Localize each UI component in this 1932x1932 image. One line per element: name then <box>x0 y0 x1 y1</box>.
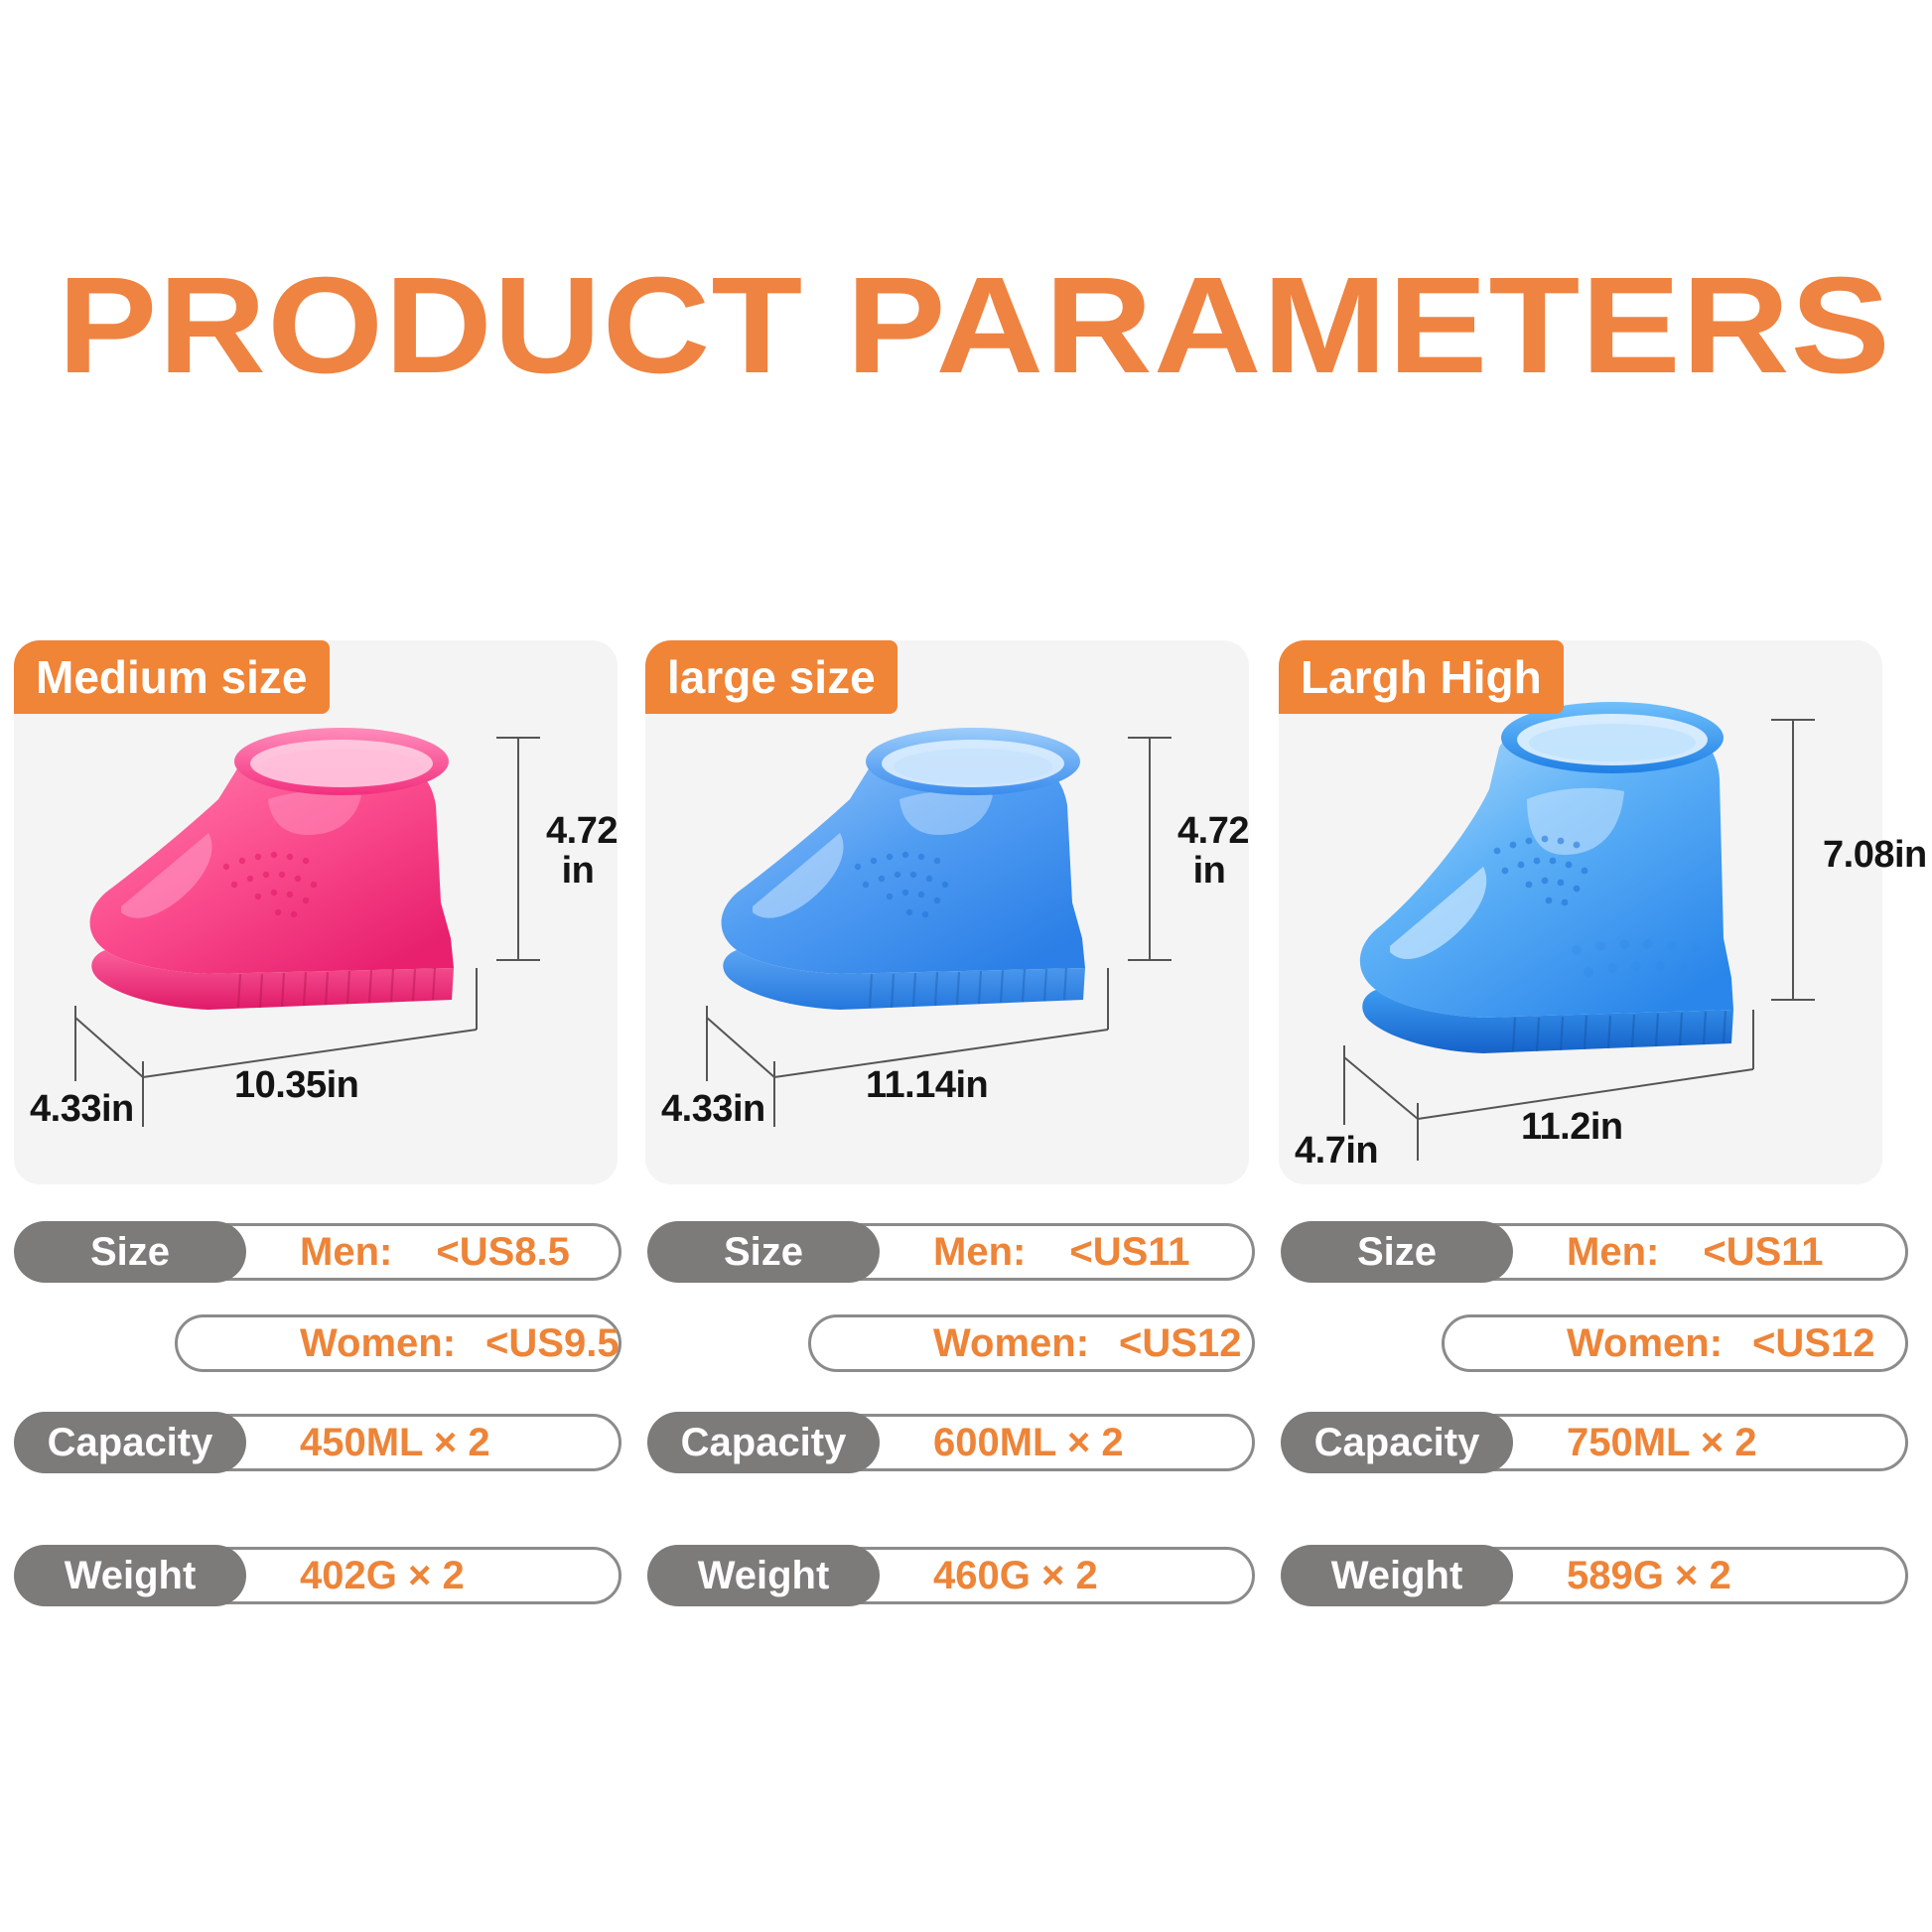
boot-illustration-largh-high <box>1279 640 1882 1184</box>
page-title: PRODUCT PARAMETERS <box>58 256 1932 395</box>
spec-row-women-largh-high[interactable]: Women:<US12 <box>1281 1314 1908 1372</box>
spec-label-size-large: Size <box>647 1221 880 1283</box>
dimension-width-largh-high: 4.7in <box>1295 1131 1378 1171</box>
spec-row-weight-largh-high[interactable]: Weight 589G × 2 <box>1281 1547 1908 1604</box>
spec-label-capacity-large: Capacity <box>647 1412 880 1473</box>
dimension-width-medium: 4.33in <box>30 1089 134 1129</box>
spec-women-text-large: Women:<US12 <box>933 1314 1241 1372</box>
spec-men-key-large: Men: <box>933 1230 1026 1274</box>
boot-blue-tall-icon <box>1279 640 1882 1184</box>
dimension-length-largh-high: 11.2in <box>1521 1107 1623 1147</box>
spec-men-value-medium: <US8.5 <box>436 1230 570 1274</box>
product-cards-row: Medium size 4.72 in 10.35in 4.33in <box>0 640 1932 1186</box>
spec-row-weight-large[interactable]: Weight 460G × 2 <box>647 1547 1275 1604</box>
spec-capacity-value-largh-high: 750ML × 2 <box>1567 1414 1757 1471</box>
dimension-height-medium: 4.72 in <box>546 811 610 891</box>
spec-row-weight-medium[interactable]: Weight 402G × 2 <box>14 1547 641 1604</box>
spec-men-text-medium: Men:<US8.5 <box>300 1223 570 1281</box>
dimension-width-large: 4.33in <box>661 1089 765 1129</box>
spec-capacity-value-large: 600ML × 2 <box>933 1414 1124 1471</box>
spec-women-key-medium: Women: <box>300 1321 456 1365</box>
spec-women-text-largh-high: Women:<US12 <box>1567 1314 1874 1372</box>
dimension-height-largh-high: 7.08in <box>1823 835 1927 875</box>
spec-men-text-largh-high: Men:<US11 <box>1567 1223 1824 1281</box>
spec-label-weight-medium: Weight <box>14 1545 246 1606</box>
dimension-height-unit-large: in <box>1177 851 1241 891</box>
card-tab-large: large size <box>645 640 897 714</box>
spec-men-key-largh-high: Men: <box>1567 1230 1659 1274</box>
spec-row-women-large[interactable]: Women:<US12 <box>647 1314 1275 1372</box>
spec-capacity-value-medium: 450ML × 2 <box>300 1414 490 1471</box>
spec-row-capacity-largh-high[interactable]: Capacity 750ML × 2 <box>1281 1414 1908 1471</box>
spec-row-size-largh-high[interactable]: Size Men:<US11 <box>1281 1223 1908 1281</box>
spec-label-capacity-largh-high: Capacity <box>1281 1412 1513 1473</box>
spec-label-size-largh-high: Size <box>1281 1221 1513 1283</box>
spec-weight-value-large: 460G × 2 <box>933 1547 1098 1604</box>
dimension-height-large: 4.72 in <box>1177 811 1241 891</box>
spec-row-size-large[interactable]: Size Men:<US11 <box>647 1223 1275 1281</box>
dimension-height-unit-medium: in <box>546 851 610 891</box>
dimension-height-value-medium: 4.72 <box>546 811 610 851</box>
spec-weight-value-largh-high: 589G × 2 <box>1567 1547 1731 1604</box>
product-card-largh-high[interactable]: Largh High 7.08in 11.2in 4.7in <box>1279 640 1882 1184</box>
spec-label-capacity-medium: Capacity <box>14 1412 246 1473</box>
spec-women-key-large: Women: <box>933 1321 1089 1365</box>
spec-women-value-large: <US12 <box>1119 1321 1241 1365</box>
spec-row-size-medium[interactable]: Size Men:<US8.5 <box>14 1223 641 1281</box>
spec-men-value-largh-high: <US11 <box>1703 1230 1823 1274</box>
spec-row-women-medium[interactable]: Women:<US9.5 <box>14 1314 641 1372</box>
spec-women-key-largh-high: Women: <box>1567 1321 1723 1365</box>
spec-women-text-medium: Women:<US9.5 <box>300 1314 620 1372</box>
spec-row-capacity-medium[interactable]: Capacity 450ML × 2 <box>14 1414 641 1471</box>
card-tab-largh-high: Largh High <box>1279 640 1564 714</box>
spec-women-value-largh-high: <US12 <box>1752 1321 1874 1365</box>
spec-row-capacity-large[interactable]: Capacity 600ML × 2 <box>647 1414 1275 1471</box>
card-tab-medium: Medium size <box>14 640 330 714</box>
product-card-large[interactable]: large size 4.72 in 11.14in 4.33in <box>645 640 1249 1184</box>
spec-label-weight-large: Weight <box>647 1545 880 1606</box>
spec-men-key-medium: Men: <box>300 1230 392 1274</box>
spec-label-weight-largh-high: Weight <box>1281 1545 1513 1606</box>
spec-label-size-medium: Size <box>14 1221 246 1283</box>
spec-women-value-medium: <US9.5 <box>485 1321 620 1365</box>
dimension-length-large: 11.14in <box>866 1065 988 1105</box>
spec-men-value-large: <US11 <box>1069 1230 1189 1274</box>
spec-weight-value-medium: 402G × 2 <box>300 1547 465 1604</box>
spec-men-text-large: Men:<US11 <box>933 1223 1190 1281</box>
product-card-medium[interactable]: Medium size 4.72 in 10.35in 4.33in <box>14 640 618 1184</box>
dimension-length-medium: 10.35in <box>234 1065 358 1105</box>
dimension-height-value-large: 4.72 <box>1177 811 1241 851</box>
